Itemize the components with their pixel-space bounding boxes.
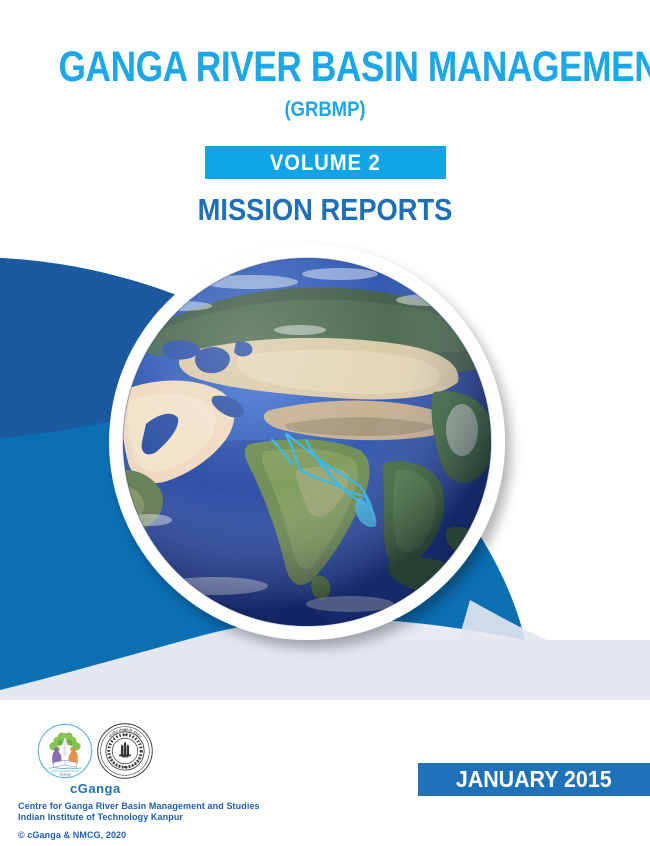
title-acronym: (GRBMP) — [39, 98, 611, 122]
title-block: GANGA RIVER BASIN MANAGEMENT PLAN (GRBMP… — [0, 44, 650, 122]
section-title: MISSION REPORTS — [39, 192, 611, 228]
footer-block: cGanga — [18, 722, 348, 840]
cganga-logo-icon: cGanga — [36, 722, 94, 780]
logo-row: cGanga — [18, 722, 348, 780]
page-title: GANGA RIVER BASIN MANAGEMENT PLAN — [59, 44, 592, 90]
volume-badge: VOLUME 2 — [205, 146, 446, 179]
date-badge: JANUARY 2015 — [418, 763, 650, 796]
cganga-wordmark: cGanga — [18, 781, 348, 796]
document-cover: GANGA RIVER BASIN MANAGEMENT PLAN (GRBMP… — [0, 0, 650, 846]
svg-text:cGanga: cGanga — [59, 772, 71, 776]
iit-kanpur-seal-icon: भारतीय प्रौद्योगिकी संस्थान INSTITUTE OF… — [96, 722, 154, 780]
copyright-notice: © cGanga & NMCG, 2020 — [18, 830, 348, 840]
credit-line-2: Indian Institute of Technology Kanpur — [18, 812, 348, 823]
credit-line-1: Centre for Ganga River Basin Management … — [18, 801, 348, 812]
volume-label: VOLUME 2 — [270, 150, 381, 176]
organisation-credits: Centre for Ganga River Basin Management … — [18, 801, 348, 823]
cover-artwork — [0, 0, 650, 846]
publication-date: JANUARY 2015 — [456, 766, 612, 793]
